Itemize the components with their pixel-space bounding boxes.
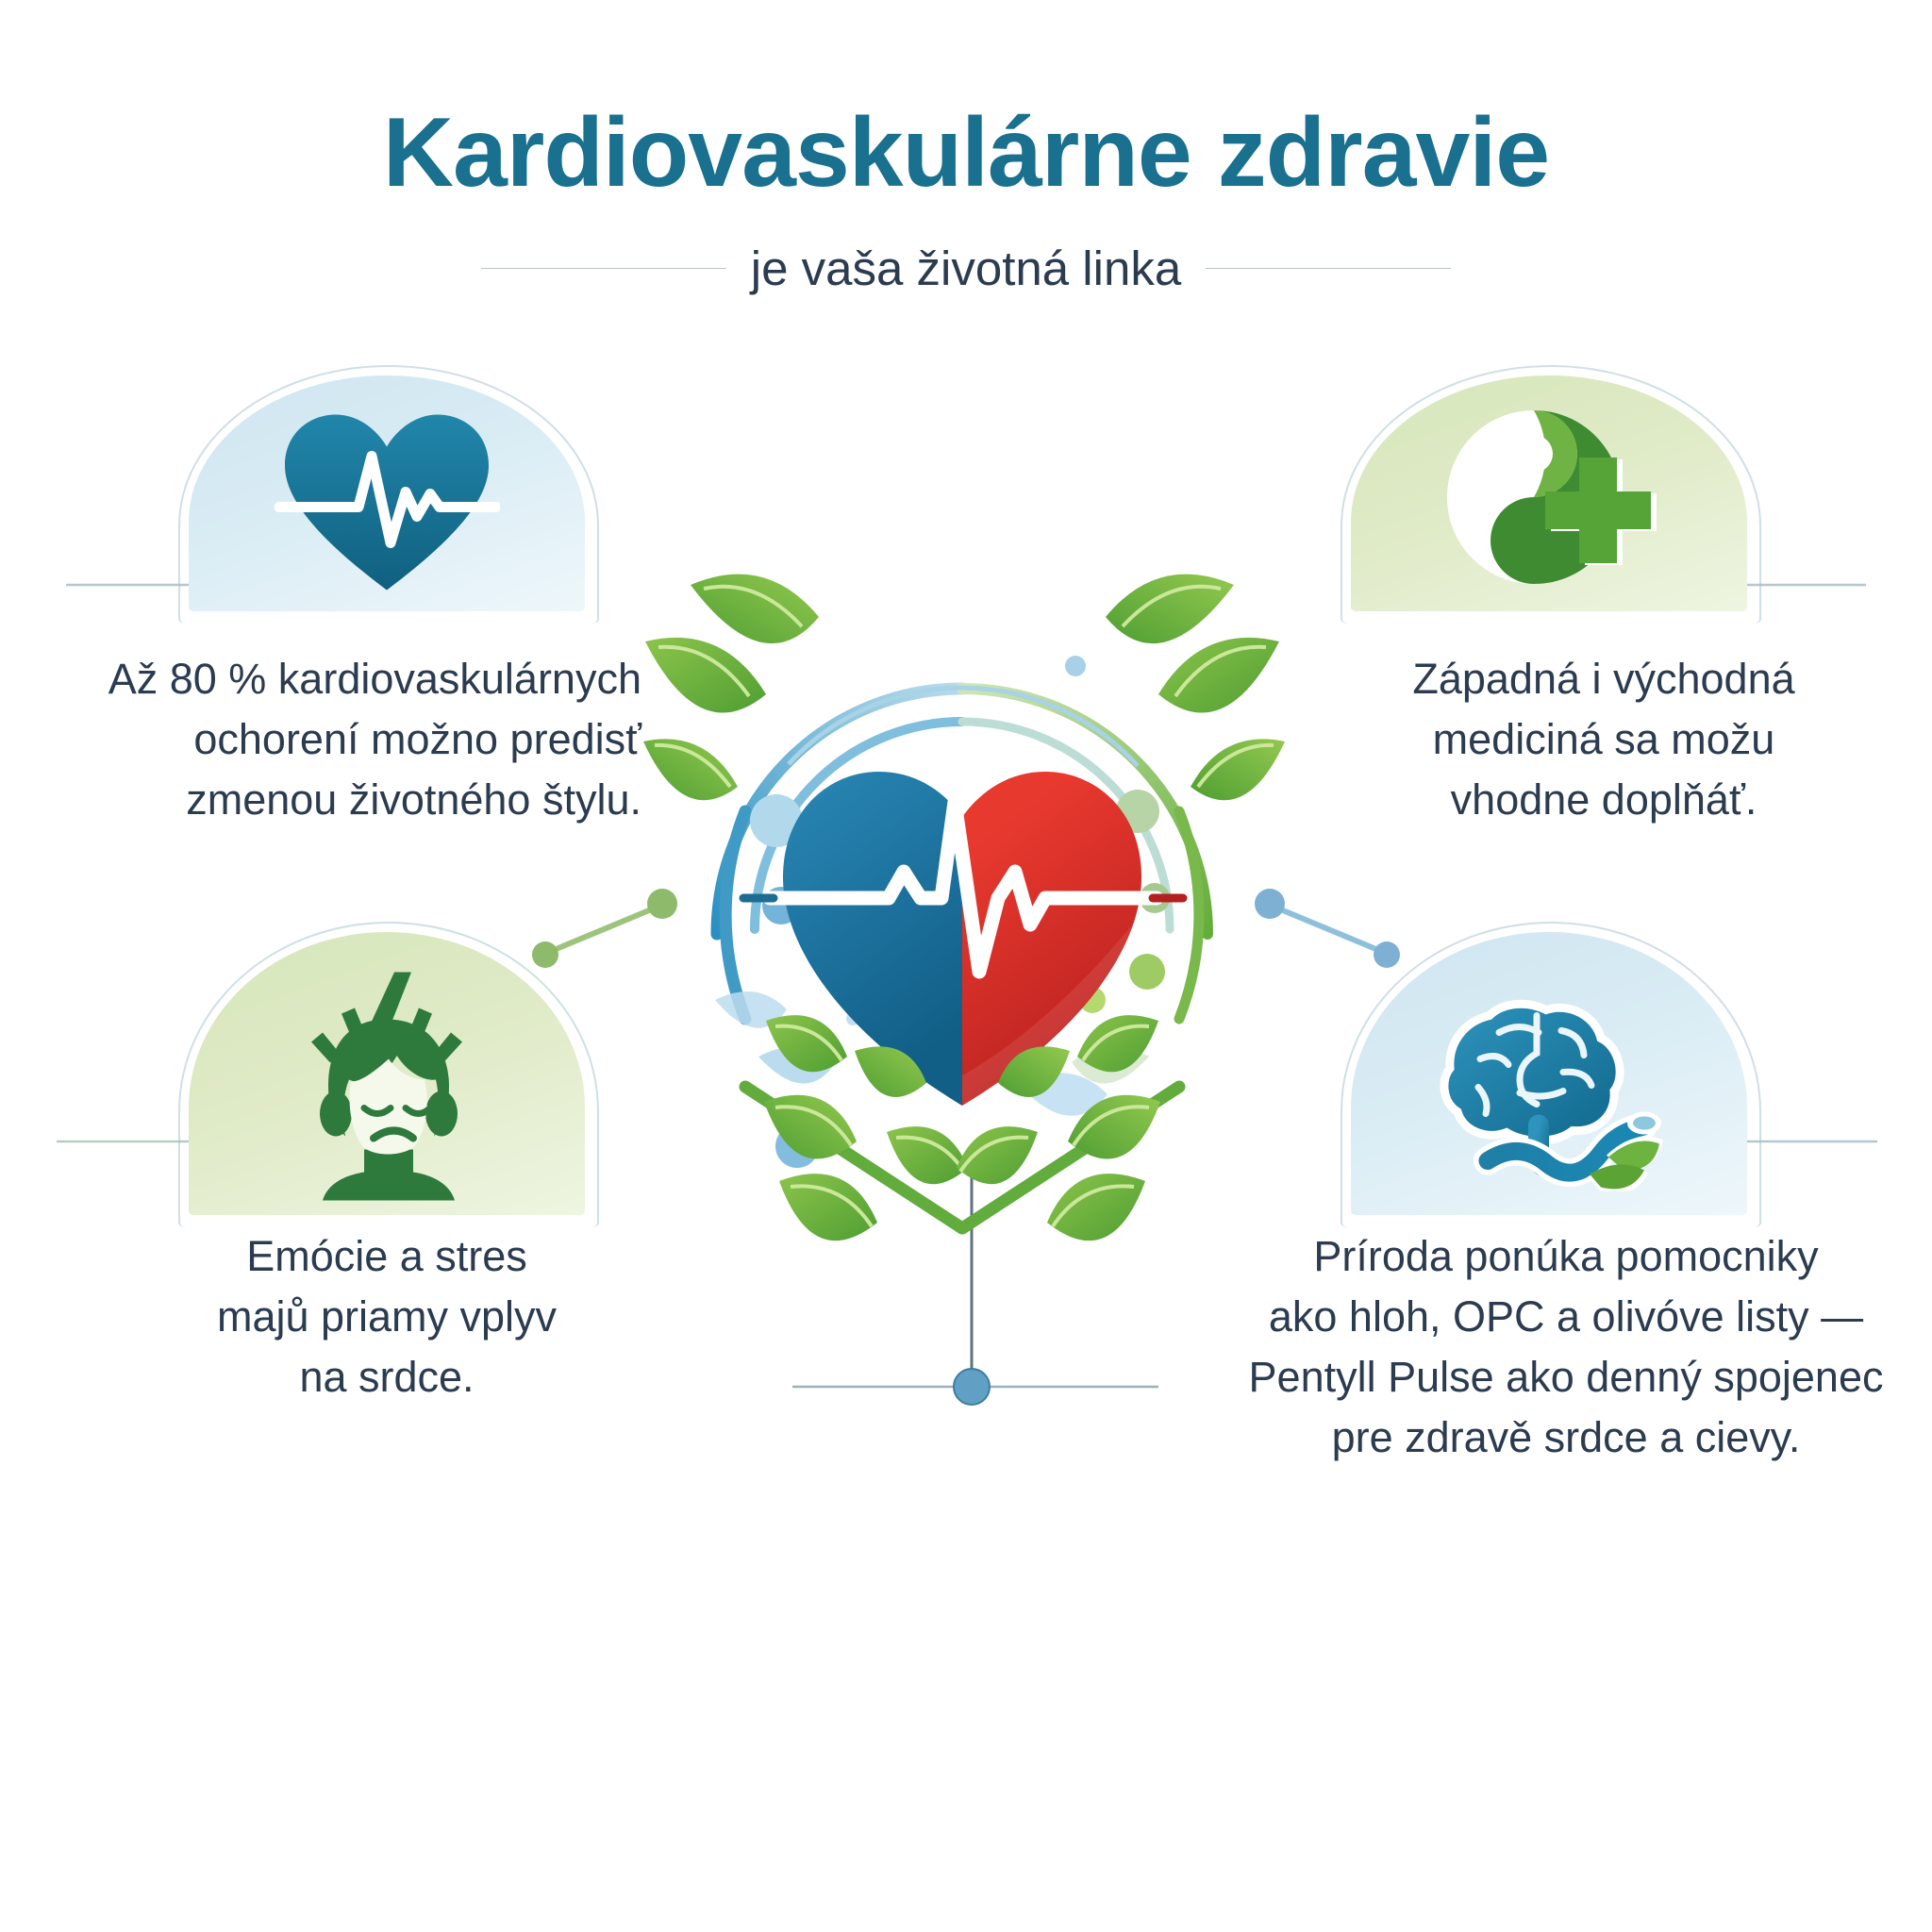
caption-line: Emócie a stres xyxy=(142,1226,632,1287)
caption-line: ako hloh, OPC a olivóve listy — xyxy=(1236,1287,1896,1347)
stressed-person-icon xyxy=(274,965,500,1206)
caption-line: Príroda ponúka pomocniky xyxy=(1236,1226,1896,1287)
caption-line: majů priamy vplyv xyxy=(142,1287,632,1347)
caption-line: zmenou životného štylu. xyxy=(57,770,641,830)
caption-line: pre zdravě srdce a cievy. xyxy=(1236,1407,1896,1468)
caption-line: vhodne doplňáť. xyxy=(1340,770,1868,830)
caption-line: mediciná sa možu xyxy=(1340,709,1868,770)
card-bottom-right[interactable] xyxy=(1351,932,1747,1215)
caption-top-right: Západná i východná mediciná sa možu vhod… xyxy=(1340,649,1868,830)
caption-line: na srdce. xyxy=(142,1347,632,1407)
caption-line: Až 80 % kardiovaskulárnych xyxy=(57,649,641,709)
heart-pulse-icon xyxy=(274,402,500,605)
card-top-right[interactable] xyxy=(1351,375,1747,611)
split-heart-ecg-laurel-emblem xyxy=(604,528,1321,1245)
caption-line: Pentyll Pulse ako denný spojenec xyxy=(1236,1347,1896,1407)
caption-line: Západná i východná xyxy=(1340,649,1868,709)
brain-vessel-leaf-icon xyxy=(1422,974,1676,1196)
caption-line: ochorení možno predisť xyxy=(57,709,641,770)
card-top-left[interactable] xyxy=(189,375,585,611)
caption-top-left: Až 80 % kardiovaskulárnych ochorení možn… xyxy=(57,649,641,830)
infographic-canvas: Kardiovaskulárne zdravie je vaša životná… xyxy=(0,0,1932,1932)
caption-bottom-right: Príroda ponúka pomocniky ako hloh, OPC a… xyxy=(1236,1226,1896,1468)
card-bottom-left[interactable] xyxy=(189,932,585,1215)
yin-yang-medical-cross-icon xyxy=(1436,399,1662,607)
caption-bottom-left: Emócie a stres majů priamy vplyv na srdc… xyxy=(142,1226,632,1407)
